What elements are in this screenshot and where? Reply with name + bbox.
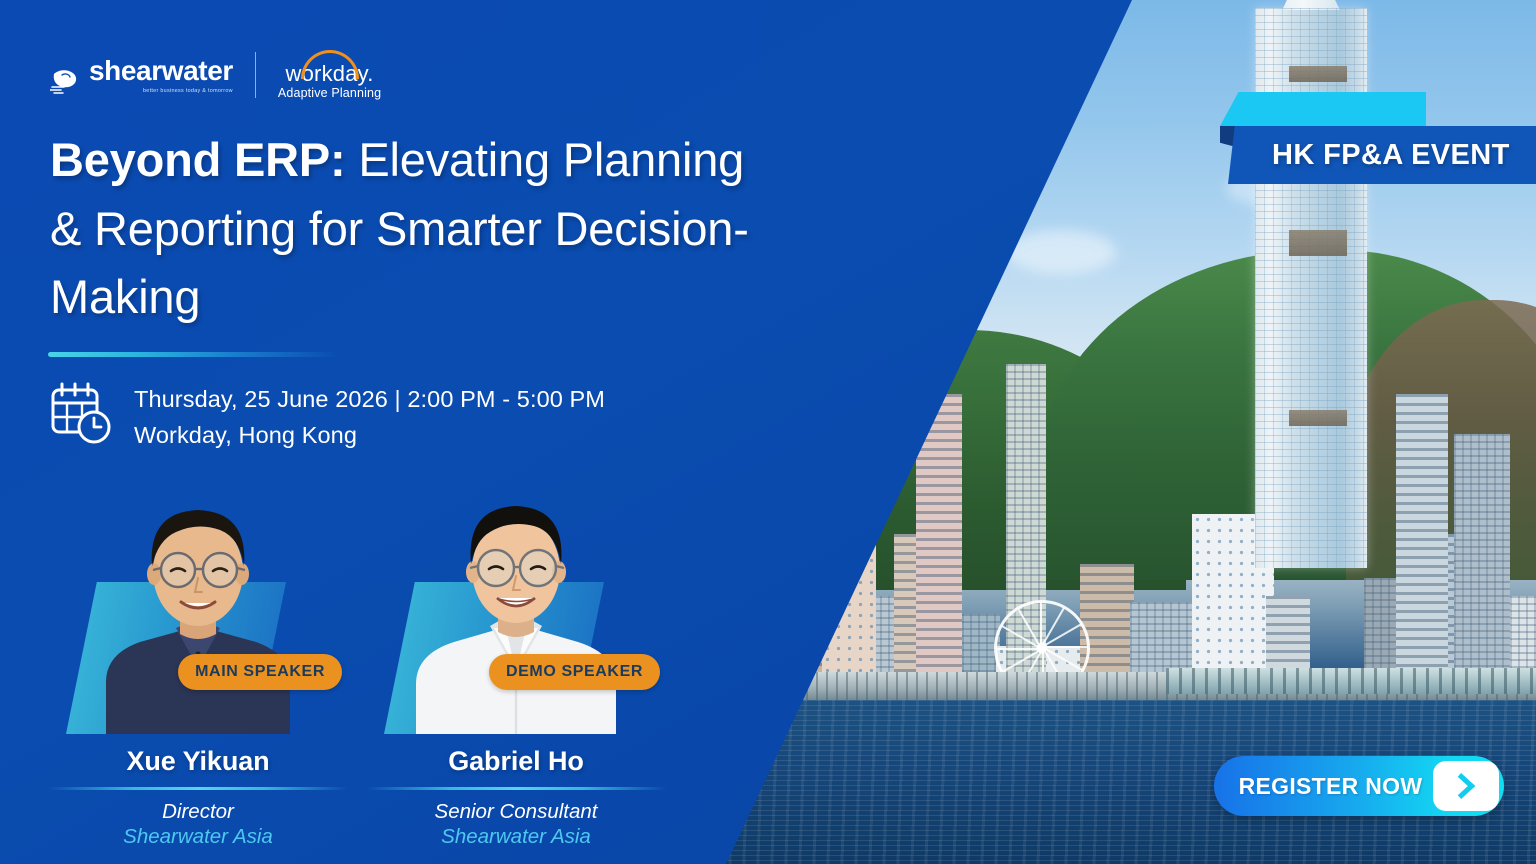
register-now-label: REGISTER NOW [1214,773,1433,800]
event-type-ribbon: HK FP&A EVENT [1206,92,1536,184]
logo-lockup: shearwater better business today & tomor… [50,50,381,100]
speaker-badge: MAIN SPEAKER [178,654,342,690]
speaker-divider [366,787,666,790]
speaker-role: Senior Consultant [366,799,666,824]
speaker-role: Director [48,799,348,824]
speaker-photo-frame: MAIN SPEAKER [48,486,348,734]
speaker-org: Shearwater Asia [366,824,666,849]
ribbon-cyan-tab [1220,92,1426,126]
event-datetime-venue: Thursday, 25 June 2026 | 2:00 PM - 5:00 … [134,382,605,453]
shearwater-name: shearwater [89,57,233,85]
shearwater-wordmark: shearwater better business today & tomor… [89,57,233,94]
speakers-section: MAIN SPEAKER Xue Yikuan Director Shearwa… [48,486,666,849]
speaker-org: Shearwater Asia [48,824,348,849]
speaker-photo-frame: DEMO SPEAKER [366,486,666,734]
workday-adaptive-planning-logo[interactable]: workday. Adaptive Planning [278,50,381,100]
event-date-time: Thursday, 25 June 2026 | 2:00 PM - 5:00 … [134,382,605,418]
shearwater-logo[interactable]: shearwater better business today & tomor… [50,57,233,94]
speaker-card: MAIN SPEAKER Xue Yikuan Director Shearwa… [48,486,348,849]
cloud-icon [1006,230,1116,274]
title-underline-rule [48,352,340,357]
speaker-name: Xue Yikuan [48,746,348,777]
tower-band [1289,410,1347,426]
event-details: Thursday, 25 June 2026 | 2:00 PM - 5:00 … [50,382,605,453]
tower-band [1289,230,1347,256]
speaker-photo-gabriel-ho [366,486,666,734]
speaker-photo-xue-yikuan [48,486,348,734]
speaker-badge: DEMO SPEAKER [489,654,660,690]
chevron-right-icon[interactable] [1433,761,1499,811]
register-now-button[interactable]: REGISTER NOW [1214,756,1504,816]
speaker-card: DEMO SPEAKER Gabriel Ho Senior Consultan… [366,486,666,849]
calendar-clock-icon [50,382,112,444]
event-venue: Workday, Hong Kong [134,418,605,454]
shearwater-tagline: better business today & tomorrow [89,88,233,94]
page-title: Beyond ERP: Elevating Planning & Reporti… [50,126,750,332]
ribbon-banner: HK FP&A EVENT [1228,126,1536,184]
workday-subtitle: Adaptive Planning [278,86,381,100]
speaker-name: Gabriel Ho [366,746,666,777]
tower-band [1289,66,1347,82]
headline-bold: Beyond ERP: [50,133,346,186]
workday-arc-icon [301,50,359,79]
ribbon-label: HK FP&A EVENT [1272,139,1510,172]
harbour-pier [1166,668,1536,694]
logo-divider [255,52,256,98]
shearwater-bird-icon [50,68,80,94]
event-banner: shearwater better business today & tomor… [0,0,1536,864]
speaker-divider [48,787,348,790]
